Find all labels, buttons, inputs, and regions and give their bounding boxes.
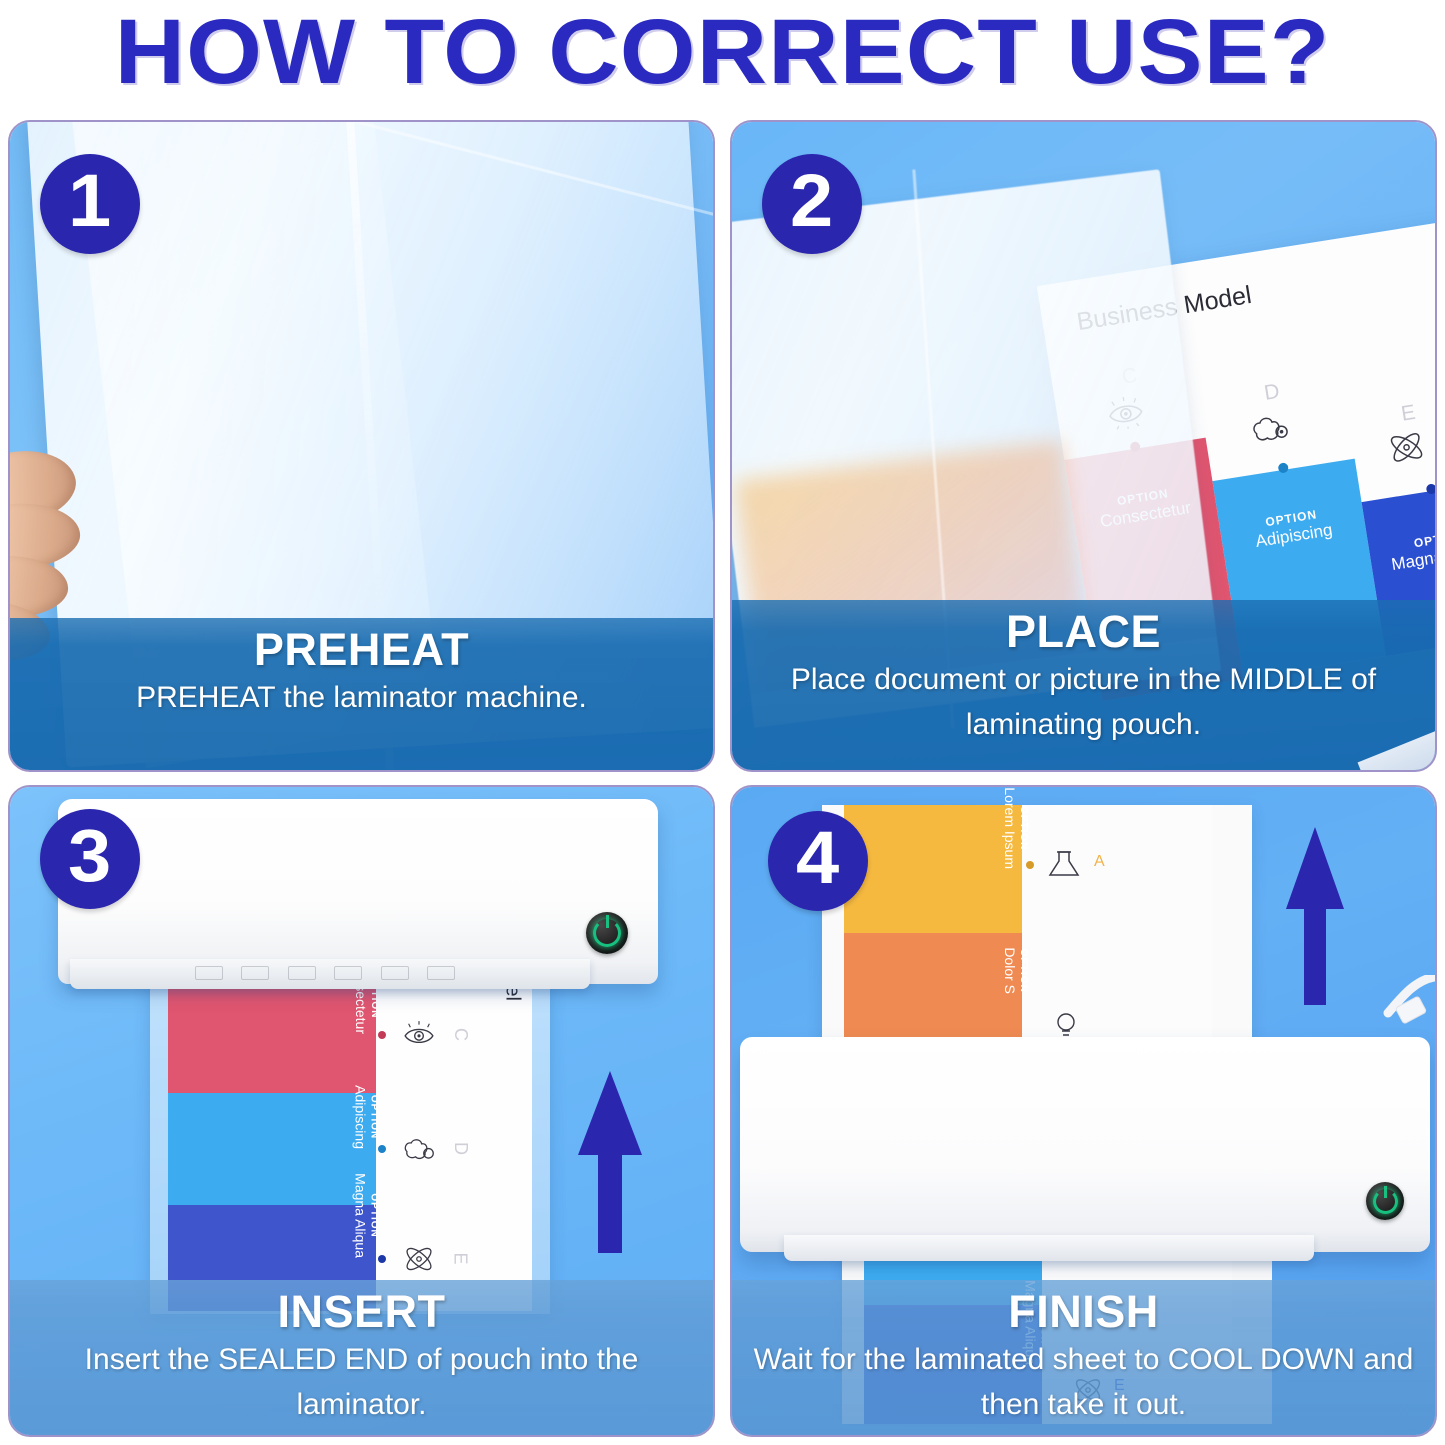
step-line-2-2: laminating pouch. (748, 702, 1419, 747)
machine-icon (241, 966, 269, 980)
step-panel-4: OPTION Lorem Ipsum OPTION Dolor S A (730, 785, 1437, 1437)
machine-icon (195, 966, 223, 980)
option-label-lorem-ipsum: OPTION Lorem Ipsum (1003, 787, 1030, 869)
document-sheet: OPTION Consectetur OPTION Adipiscing (168, 975, 532, 1311)
power-icon (1373, 1189, 1398, 1214)
step-panel-1: 1 PREHEAT PREHEAT the laminator machine. (8, 120, 715, 772)
step-number: 1 (68, 164, 111, 238)
power-icon (593, 919, 621, 947)
power-button[interactable] (586, 912, 628, 954)
power-cord (1344, 975, 1436, 1027)
option-bar-lorem-ipsum: OPTION Lorem Ipsum (844, 805, 1022, 933)
option-row-d: D (376, 1093, 532, 1205)
step-number: 3 (68, 819, 111, 893)
step-title-1: PREHEAT (26, 626, 697, 673)
option-dot (1026, 861, 1034, 869)
option-label-magna-aliqua: OPTION Magna Aliqua (1368, 521, 1437, 578)
option-dot (378, 1255, 386, 1263)
bulb-icon (1048, 1009, 1084, 1039)
step-title-3: INSERT (26, 1288, 697, 1335)
step-badge-1: 1 (40, 154, 140, 254)
option-label-adipiscing: OPTION Adipiscing (1219, 500, 1366, 557)
option-bars: OPTION Consectetur OPTION Adipiscing (168, 975, 376, 1311)
machine-control-icons (195, 965, 455, 981)
page-title: HOW TO CORRECT USE? (0, 0, 1445, 104)
option-dot (378, 1031, 386, 1039)
steps-grid: 1 PREHEAT PREHEAT the laminator machine.… (8, 120, 1437, 1437)
option-bar-consectetur: OPTION Consectetur (168, 975, 376, 1093)
option-row-c: C (376, 979, 532, 1091)
laminating-pouch-3: OPTION Consectetur OPTION Adipiscing (150, 969, 550, 1314)
step-line-3-1: Insert the SEALED END of pouch into the … (26, 1337, 697, 1427)
option-bar-adipiscing: OPTION Adipiscing (168, 1093, 376, 1205)
step-caption-2: PLACE Place document or picture in the M… (732, 600, 1435, 770)
laminator-machine-3 (58, 799, 658, 984)
step-number: 4 (796, 821, 839, 895)
option-letter-d: D (1263, 380, 1282, 406)
step-panel-3: OPTION Consectetur OPTION Adipiscing (8, 785, 715, 1437)
option-letter-d: D (450, 1142, 471, 1155)
machine-icon (288, 966, 316, 980)
step-caption-4: FINISH Wait for the laminated sheet to C… (732, 1280, 1435, 1435)
eye-icon (400, 1019, 438, 1051)
step-badge-3: 3 (40, 809, 140, 909)
option-letter-e: E (450, 1252, 471, 1264)
laminator-exit-lip (784, 1235, 1314, 1261)
atom-icon (400, 1243, 438, 1275)
option-label-dolor-s: OPTION Dolor S (1003, 947, 1030, 994)
laminator-machine-4 (740, 1037, 1430, 1252)
flask-icon (1046, 849, 1082, 879)
step-title-4: FINISH (748, 1288, 1419, 1335)
infographic-page: HOW TO CORRECT USE? 1 PREHEAT PREHEAT th (0, 0, 1445, 1445)
brain-gear-icon (400, 1133, 438, 1165)
document-right-column: rrow Business Model C (376, 975, 532, 1311)
step-panel-2: Business Model C D E (730, 120, 1437, 772)
step-caption-1: PREHEAT PREHEAT the laminator machine. (10, 618, 713, 770)
machine-icon (381, 966, 409, 980)
step-line-3-2: Let laminating pouch GOES THROUGH by its… (26, 1427, 697, 1437)
option-letter-c: C (450, 1028, 471, 1041)
step-line-4-1: Wait for the laminated sheet to COOL DOW… (748, 1337, 1419, 1382)
direction-arrow-up-icon (1280, 823, 1350, 1008)
machine-icon (334, 966, 362, 980)
step-badge-4: 4 (768, 811, 868, 911)
step-number: 2 (790, 164, 833, 238)
step-line-2-1: Place document or picture in the MIDDLE … (748, 657, 1419, 702)
machine-icon (427, 966, 455, 980)
option-dot (1426, 483, 1437, 494)
option-dot (1278, 462, 1289, 473)
step-badge-2: 2 (762, 154, 862, 254)
step-line-4-2: then take it out. (748, 1382, 1419, 1427)
option-letter-a: A (1094, 853, 1105, 871)
step-title-2: PLACE (748, 608, 1419, 655)
direction-arrow-up-icon (570, 1067, 650, 1257)
step-line-1-1: PREHEAT the laminator machine. (26, 675, 697, 720)
option-dot (378, 1145, 386, 1153)
step-caption-3: INSERT Insert the SEALED END of pouch in… (10, 1280, 713, 1435)
laminated-sheet-top: OPTION Lorem Ipsum OPTION Dolor S A (822, 805, 1252, 1055)
power-button[interactable] (1366, 1182, 1404, 1220)
